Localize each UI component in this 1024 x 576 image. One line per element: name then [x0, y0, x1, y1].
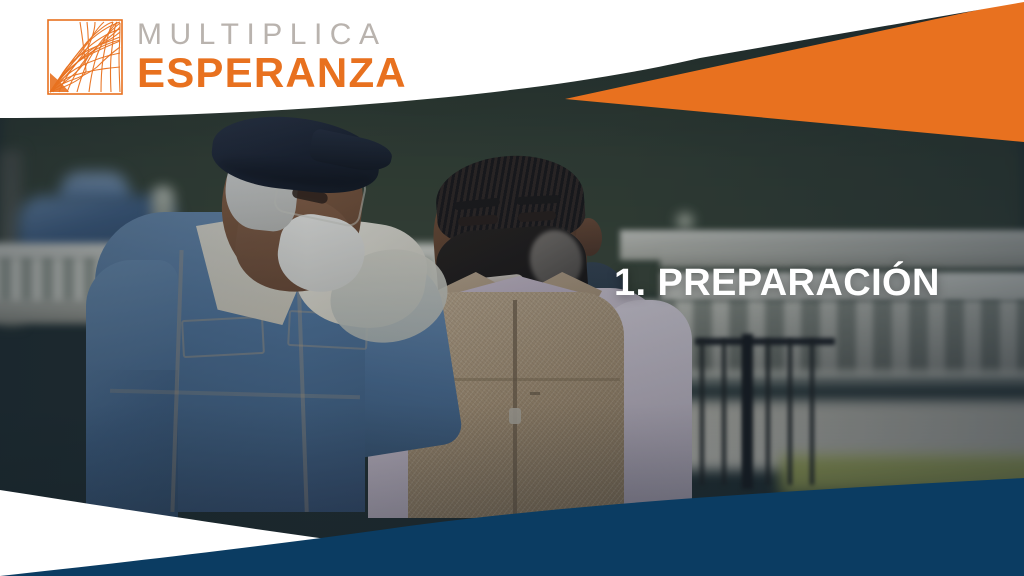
brand-logo: MULTIPLICA ESPERANZA	[47, 19, 407, 95]
slide-footer: ® MULTILINGUAL MINISTRIES Seventh-day Ad…	[0, 426, 1024, 576]
slide-header: MULTIPLICA ESPERANZA	[0, 0, 1024, 150]
presentation-slide: MULTIPLICA ESPERANZA 1. PREPARACIÓN	[0, 0, 1024, 576]
grid-mark-svg	[47, 19, 123, 95]
brand-logo-line-2: ESPERANZA	[137, 52, 407, 94]
brand-logo-wordmark: MULTIPLICA ESPERANZA	[137, 20, 407, 94]
footer-shape-group	[0, 426, 1024, 576]
brand-logo-line-1: MULTIPLICA	[137, 20, 407, 50]
multiplica-esperanza-grid-mark	[47, 19, 123, 95]
slide-title: 1. PREPARACIÓN	[614, 262, 940, 305]
